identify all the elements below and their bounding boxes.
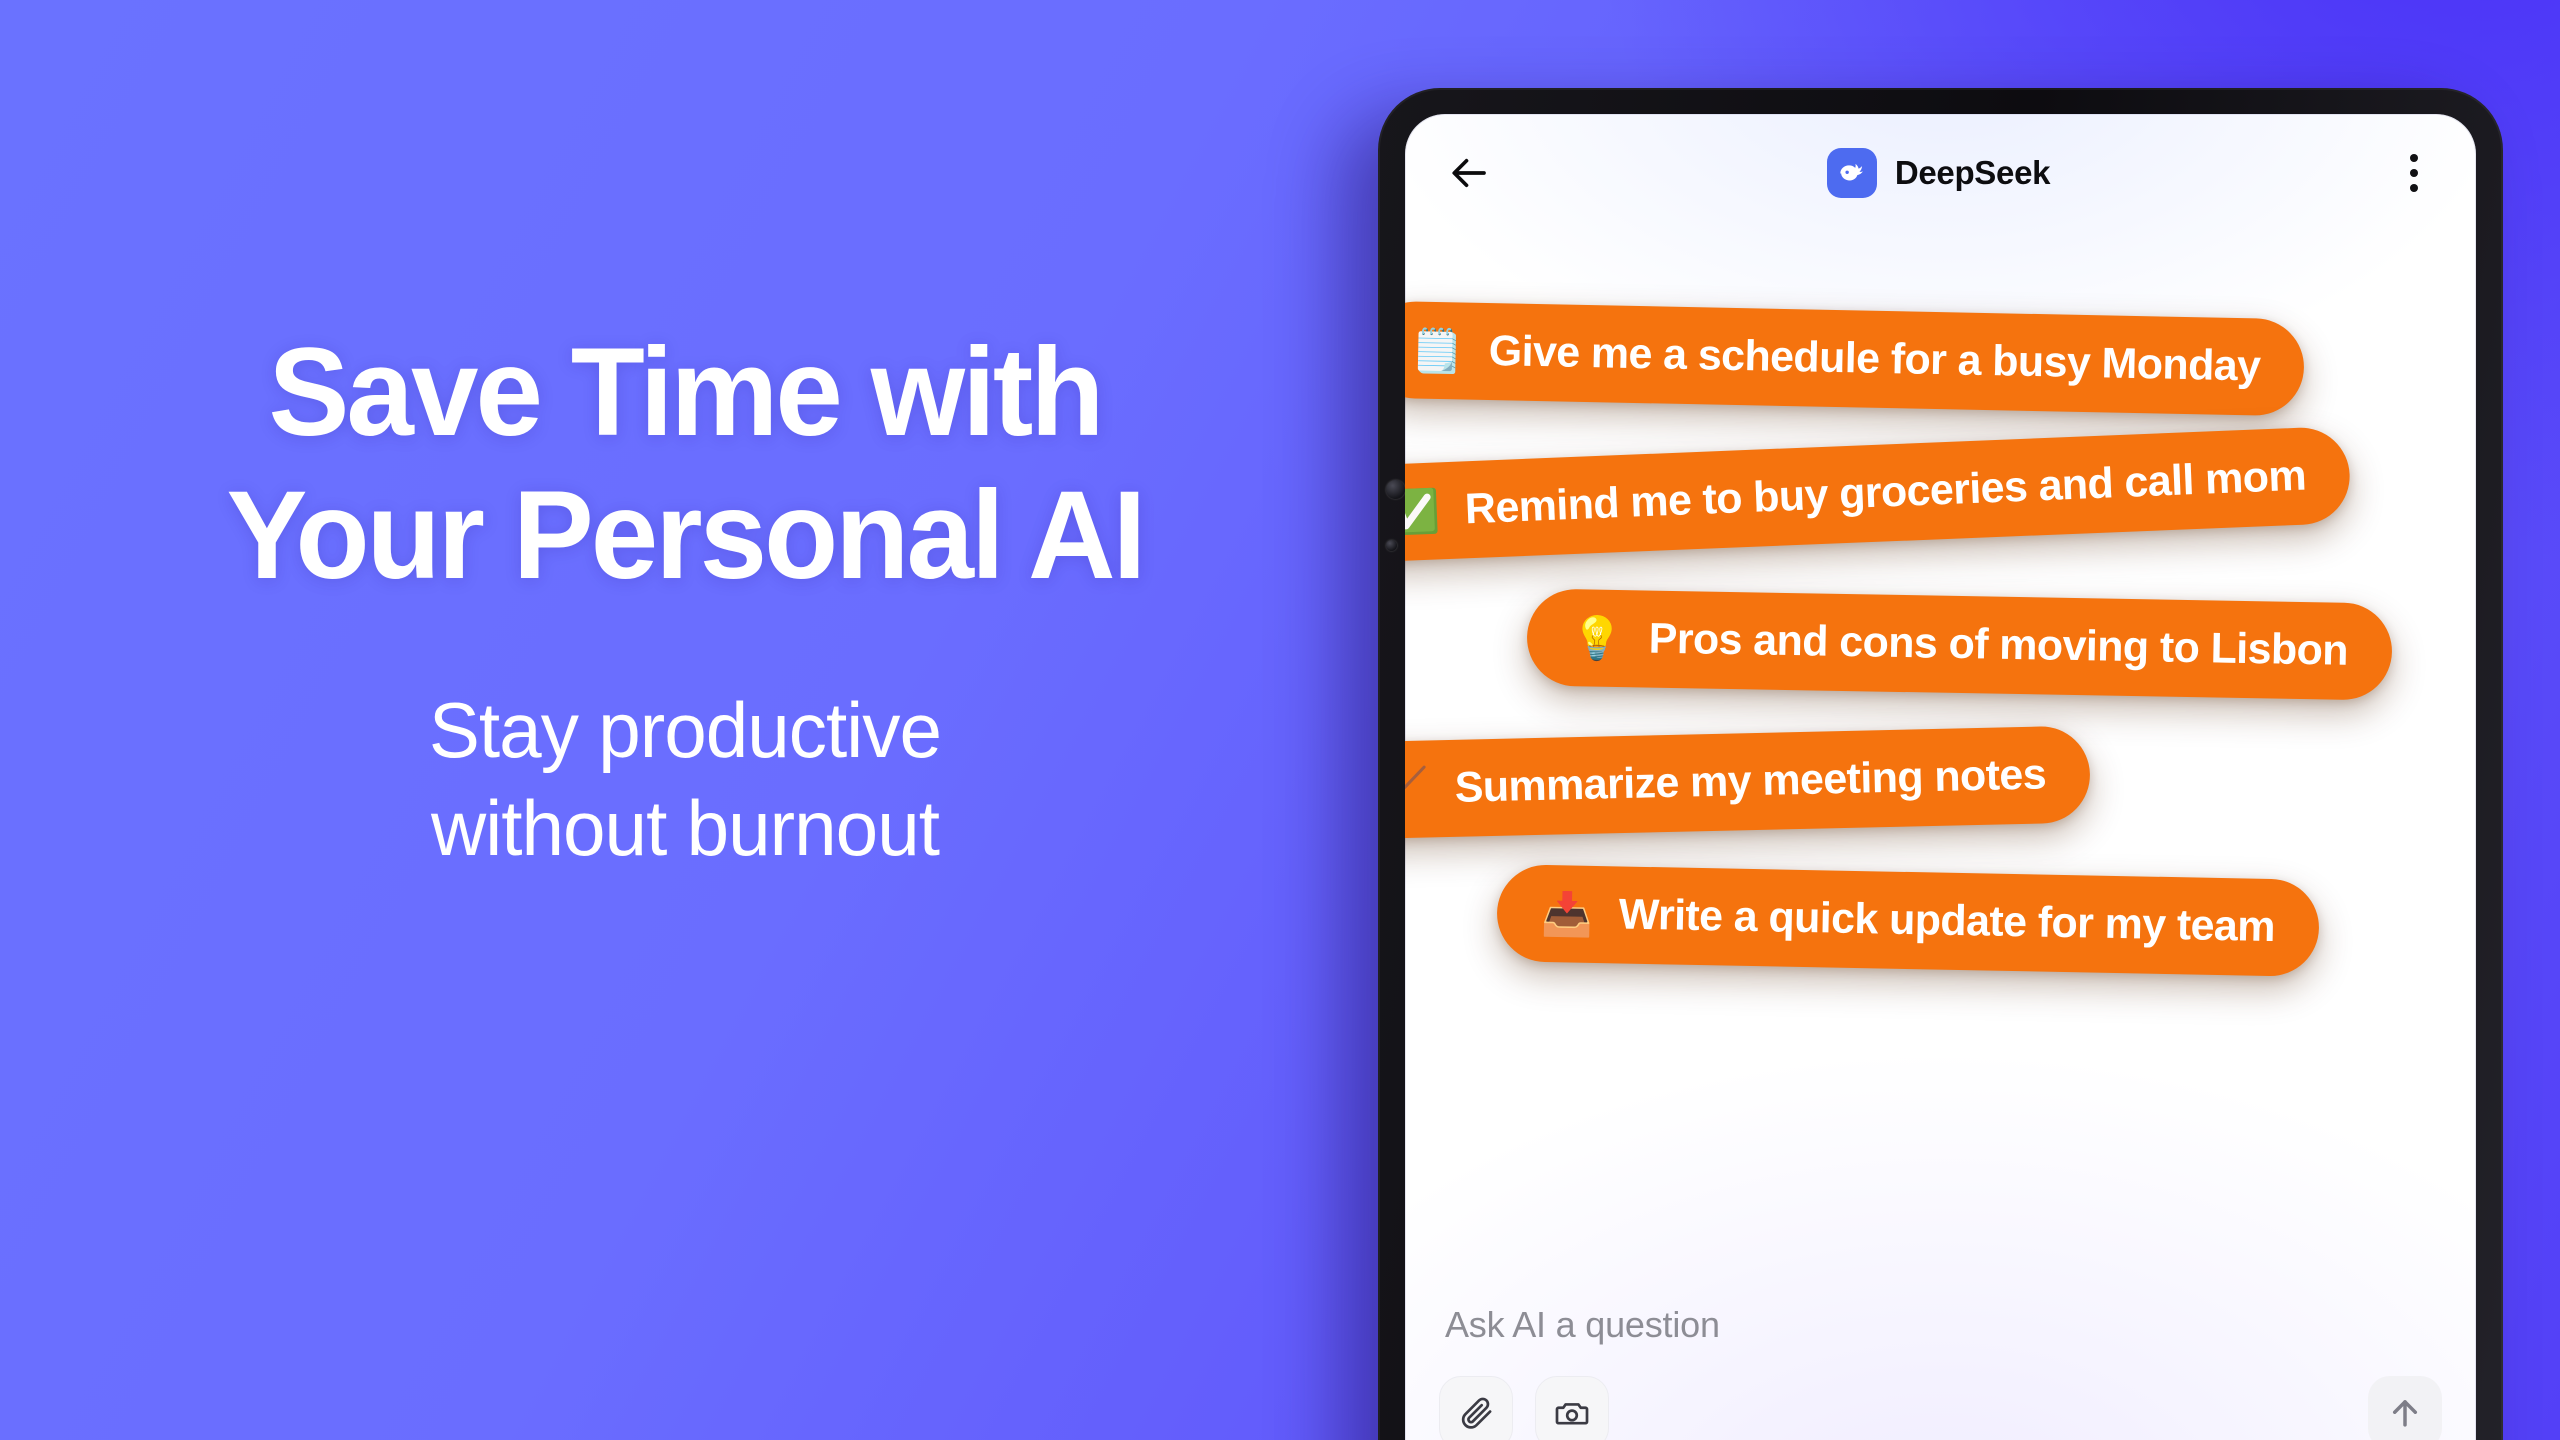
check-mark-button-emoji: ✅ [1405, 490, 1440, 534]
suggestion-chip[interactable]: 🧹 Summarize my meeting notes [1405, 725, 2091, 839]
subheadline-line-1: Stay productive [429, 686, 941, 774]
suggestion-chip-label: Summarize my meeting notes [1454, 752, 2046, 811]
suggestion-chip[interactable]: 📥 Write a quick update for my team [1496, 864, 2320, 977]
phone-mockup: DeepSeek Ask AI a question [1378, 88, 2503, 1440]
suggestion-chip-label: Remind me to buy groceries and call mom [1464, 454, 2307, 533]
subheadline-line-2: without burnout [14, 784, 1357, 874]
spiral-notepad-emoji: 🗒️ [1411, 329, 1464, 372]
marketing-copy: Save Time with Your Personal AI Stay pro… [0, 330, 1370, 873]
suggestion-chip[interactable]: 💡 Pros and cons of moving to Lisbon [1526, 588, 2393, 700]
front-camera-dot [1386, 480, 1405, 499]
headline: Save Time with Your Personal AI [21, 330, 1350, 598]
headline-line-2: Your Personal AI [21, 473, 1350, 598]
headline-line-1: Save Time with [268, 323, 1101, 462]
suggestion-chip[interactable]: ✅ Remind me to buy groceries and call mo… [1405, 426, 2352, 563]
suggestion-chip[interactable]: 🗒️ Give me a schedule for a busy Monday [1405, 301, 2305, 417]
suggestion-chip-label: Give me a schedule for a busy Monday [1488, 329, 2261, 390]
proximity-sensor-dot [1386, 540, 1397, 551]
broom-emoji: 🧹 [1405, 768, 1429, 811]
subheadline: Stay productive without burnout [14, 686, 1357, 873]
inbox-tray-emoji: 📥 [1541, 893, 1593, 936]
suggestion-chip-label: Write a quick update for my team [1618, 892, 2275, 950]
suggestion-chip-label: Pros and cons of moving to Lisbon [1648, 617, 2348, 674]
suggestion-chip-list: 🗒️ Give me a schedule for a busy Monday … [1405, 114, 2476, 1440]
light-bulb-emoji: 💡 [1571, 617, 1623, 660]
promo-banner: Save Time with Your Personal AI Stay pro… [0, 0, 2560, 1440]
phone-screen: DeepSeek Ask AI a question [1405, 114, 2476, 1440]
